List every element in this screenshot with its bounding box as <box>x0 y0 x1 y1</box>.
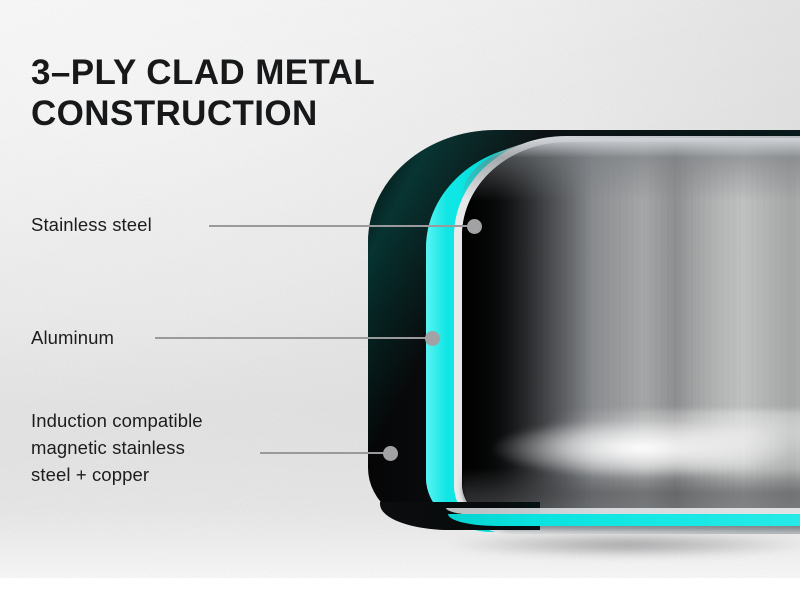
leader-line-induction <box>260 452 390 454</box>
product-infographic: 3–PLY CLAD METAL CONSTRUCTION Stainless … <box>0 0 800 600</box>
callout-label-induction: Induction compatible magnetic stainless … <box>31 407 203 488</box>
page-title: 3–PLY CLAD METAL CONSTRUCTION <box>31 52 461 134</box>
callout-dot-aluminum <box>425 331 440 346</box>
callout-label-stainless-steel: Stainless steel <box>31 211 152 238</box>
callout-label-aluminum: Aluminum <box>31 324 114 351</box>
callout-dot-induction <box>383 446 398 461</box>
callout-dot-stainless-steel <box>467 219 482 234</box>
vessel-top-lip <box>462 138 800 208</box>
base-aluminum-layer <box>448 514 800 526</box>
cookware-cutaway-illustration <box>330 110 800 555</box>
foreground-floor-band <box>0 578 800 600</box>
leader-line-stainless-steel <box>209 225 475 227</box>
leader-line-aluminum <box>155 337 433 339</box>
